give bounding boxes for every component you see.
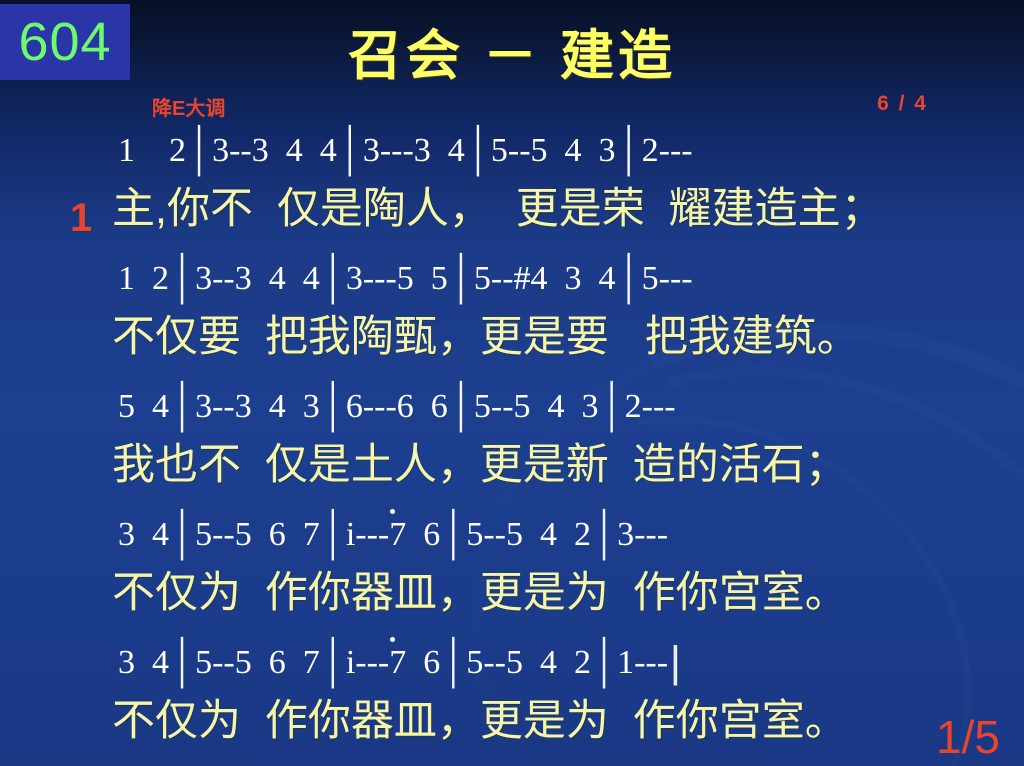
bar-line-icon: │ <box>616 120 642 183</box>
hymn-line-group: 5 4│3--3 4 3│6---6 6│5--5 4 3│2--- 我也不 仅… <box>0 382 1024 510</box>
notation-pickup: 1 2 <box>118 132 186 169</box>
hymn-slide: 604 召会 － 建造 降E大调 6 / 4 1 2│3--3 4 4│3---… <box>0 0 1024 766</box>
hymn-line-group: 3 4│5--5 6 7│i---7 6│5--5 4 2│1---|| 不仅为… <box>0 638 1024 766</box>
notation-measure: 3--- <box>617 516 668 553</box>
bar-line-icon: │ <box>169 248 195 311</box>
high-octave-note: i---7 6 <box>346 510 440 560</box>
bar-line-icon: │ <box>337 120 363 183</box>
notation-row: 3 4│5--5 6 7│i---7 6│5--5 4 2│1---|| <box>0 638 1024 688</box>
double-bar-line-icon: || <box>668 631 675 696</box>
bar-line-icon: │ <box>186 120 212 183</box>
notation-measure: i---7 6 <box>346 516 440 553</box>
bar-line-icon: │ <box>616 248 642 311</box>
bar-line-icon: │ <box>448 376 474 439</box>
notation-measure: 5--5 4 2 <box>466 516 591 553</box>
bar-line-icon: │ <box>169 632 195 695</box>
page-title: 召会 － 建造 <box>0 28 1024 85</box>
notation-measure: 5--#4 3 4 <box>474 260 616 297</box>
notation-row: 5 4│3--3 4 3│6---6 6│5--5 4 3│2--- <box>0 382 1024 432</box>
hymn-line-group: 3 4│5--5 6 7│i---7 6│5--5 4 2│3--- 不仅为 作… <box>0 510 1024 638</box>
hymn-body: 1 2│3--3 4 4│3---3 4│5--5 4 3│2--- 1主,你不… <box>0 126 1024 766</box>
notation-measure: 2--- <box>642 132 693 169</box>
bar-line-icon: │ <box>440 504 466 567</box>
bar-line-icon: │ <box>169 376 195 439</box>
page-indicator: 1/5 <box>936 714 1000 760</box>
notation-row: 3 4│5--5 6 7│i---7 6│5--5 4 2│3--- <box>0 510 1024 560</box>
notation-pickup: 3 4 <box>118 644 169 681</box>
notation-measure: 6---6 6 <box>346 388 448 425</box>
bar-line-icon: │ <box>320 376 346 439</box>
notation-measure: 3---3 4 <box>363 132 465 169</box>
bar-line-icon: │ <box>599 376 625 439</box>
high-octave-note: i---7 6 <box>346 638 440 688</box>
lyric-row: 不仅为 作你器皿，更是为 作你宫室。 <box>0 688 1024 754</box>
notation-measure: 5--- <box>642 260 693 297</box>
lyric-text: 不仅为 作你器皿，更是为 作你宫室。 <box>112 697 848 745</box>
lyric-text: 不仅要 把我陶甄，更是要 把我建筑。 <box>112 313 860 361</box>
hymn-line-group: 1 2│3--3 4 4│3---5 5│5--#4 3 4│5--- 不仅要 … <box>0 254 1024 382</box>
bar-line-icon: │ <box>448 248 474 311</box>
notation-pickup: 1 2 <box>118 260 169 297</box>
notation-pickup: 5 4 <box>118 388 169 425</box>
bar-line-icon: │ <box>440 632 466 695</box>
lyric-row: 不仅要 把我陶甄，更是要 把我建筑。 <box>0 304 1024 370</box>
lyric-row: 不仅为 作你器皿，更是为 作你宫室。 <box>0 560 1024 626</box>
notation-measure: 3--3 4 3 <box>195 388 320 425</box>
hymn-line-group: 1 2│3--3 4 4│3---3 4│5--5 4 3│2--- 1主,你不… <box>0 126 1024 254</box>
notation-measure: i---7 6 <box>346 644 440 681</box>
bar-line-icon: │ <box>169 504 195 567</box>
notation-measure: 3---5 5 <box>346 260 448 297</box>
bar-line-icon: │ <box>320 248 346 311</box>
lyric-row: 我也不 仅是土人，更是新 造的活石； <box>0 432 1024 498</box>
notation-measure: 5--5 4 3 <box>491 132 616 169</box>
key-signature: 降E大调 <box>152 92 225 121</box>
verse-number: 1 <box>70 198 92 238</box>
bar-line-icon: │ <box>320 632 346 695</box>
time-signature: 6 / 4 <box>877 92 928 116</box>
notation-measure: 2--- <box>625 388 676 425</box>
notation-measure: 3--3 4 4 <box>195 260 320 297</box>
lyric-row: 1主,你不 仅是陶人， 更是荣 耀建造主； <box>0 176 1024 242</box>
notation-row: 1 2│3--3 4 4│3---5 5│5--#4 3 4│5--- <box>0 254 1024 304</box>
notation-measure: 5--5 4 3 <box>474 388 599 425</box>
bar-line-icon: │ <box>591 504 617 567</box>
notation-row: 1 2│3--3 4 4│3---3 4│5--5 4 3│2--- <box>0 126 1024 176</box>
bar-line-icon: │ <box>465 120 491 183</box>
bar-line-icon: │ <box>320 504 346 567</box>
notation-measure: 5--5 6 7 <box>195 516 320 553</box>
notation-measure: 5--5 4 2 <box>466 644 591 681</box>
notation-measure: 5--5 6 7 <box>195 644 320 681</box>
notation-measure: 3--3 4 4 <box>212 132 337 169</box>
bar-line-icon: │ <box>591 632 617 695</box>
notation-measure: 1--- <box>617 644 668 681</box>
lyric-text: 我也不 仅是土人，更是新 造的活石； <box>112 441 848 489</box>
notation-pickup: 3 4 <box>118 516 169 553</box>
lyric-text: 主,你不 仅是陶人， 更是荣 耀建造主； <box>112 185 884 233</box>
lyric-text: 不仅为 作你器皿，更是为 作你宫室。 <box>112 569 848 617</box>
